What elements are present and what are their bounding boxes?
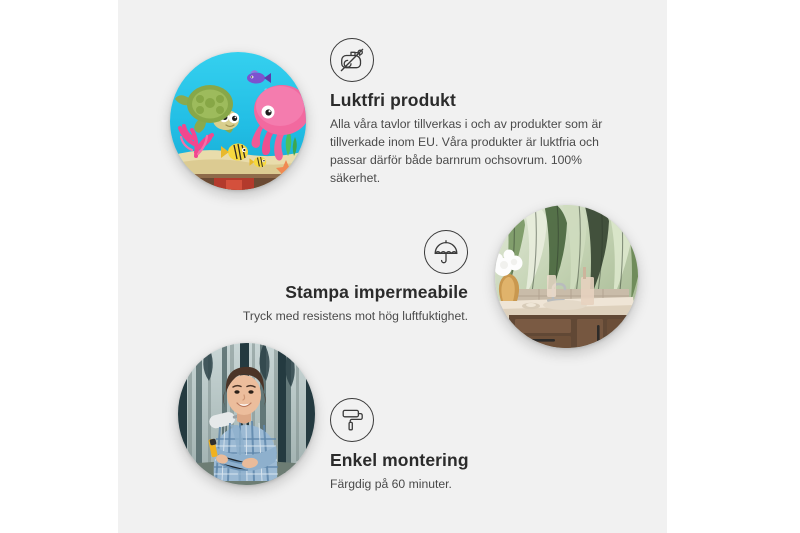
underwater-scene-photo bbox=[170, 52, 306, 190]
umbrella-icon bbox=[424, 230, 468, 274]
no-fragrance-icon bbox=[330, 38, 374, 82]
feature-block-odourless: Luktfri produkt Alla våra tavlor tillver… bbox=[330, 38, 626, 187]
feature-block-assembly: Enkel montering Färgdig på 60 minuter. bbox=[330, 398, 580, 493]
feature-title: Luktfri produkt bbox=[330, 90, 626, 111]
painter-in-forest-photo bbox=[178, 343, 315, 485]
feature-block-waterproof: Stampa impermeabile Tryck med resistens … bbox=[196, 230, 468, 325]
feature-body: Alla våra tavlor tillverkas i och av pro… bbox=[330, 115, 626, 187]
feature-title: Stampa impermeabile bbox=[196, 282, 468, 303]
feature-body: Färgdig på 60 minuter. bbox=[330, 475, 580, 493]
promo-canvas: Luktfri produkt Alla våra tavlor tillver… bbox=[0, 0, 800, 533]
paint-roller-icon bbox=[330, 398, 374, 442]
feature-title: Enkel montering bbox=[330, 450, 580, 471]
bathroom-interior-photo bbox=[495, 205, 638, 348]
feature-body: Tryck med resistens mot hög luftfuktighe… bbox=[196, 307, 468, 325]
